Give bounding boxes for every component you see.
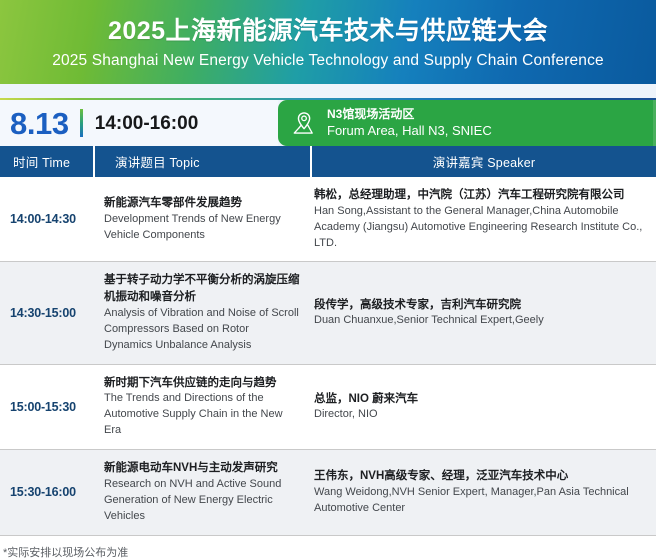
table-row: 14:30-15:00 基于转子动力学不平衡分析的涡旋压缩机振动和噪音分析 An…	[0, 262, 656, 364]
venue-name-en: Forum Area, Hall N3, SNIEC	[327, 122, 492, 140]
session-topic-cell: 基于转子动力学不平衡分析的涡旋压缩机振动和噪音分析 Analysis of Vi…	[95, 262, 312, 363]
table-row: 15:00-15:30 新时期下汽车供应链的走向与趋势 The Trends a…	[0, 365, 656, 450]
session-topic-cell: 新能源电动车NVH与主动发声研究 Research on NVH and Act…	[95, 450, 312, 534]
column-header-speaker: 演讲嘉宾 Speaker	[312, 146, 656, 177]
session-topic-cn: 基于转子动力学不平衡分析的涡旋压缩机振动和噪音分析	[104, 272, 300, 305]
session-speaker-cell: 总监，NIO 蔚来汽车 Director, NIO	[312, 365, 656, 449]
table-row: 14:00-14:30 新能源汽车零部件发展趋势 Development Tre…	[0, 177, 656, 262]
session-time: 14:30-15:00	[0, 262, 95, 363]
session-topic-cn: 新能源汽车零部件发展趋势	[104, 195, 300, 212]
event-info-bar: 8.13 14:00-16:00 N3馆现场活动区 Forum Area, Ha…	[0, 84, 656, 146]
session-speaker-cn: 段传学，高级技术专家，吉利汽车研究院	[314, 297, 646, 314]
session-speaker-cn: 韩松，总经理助理，中汽院（江苏）汽车工程研究院有限公司	[314, 187, 646, 204]
column-header-time: 时间 Time	[0, 146, 95, 177]
venue-name-cn: N3馆现场活动区	[327, 106, 492, 122]
session-topic-en: Research on NVH and Active Sound Generat…	[104, 477, 300, 525]
conference-title-en: 2025 Shanghai New Energy Vehicle Technol…	[52, 51, 604, 71]
venue-text-group: N3馆现场活动区 Forum Area, Hall N3, SNIEC	[327, 106, 492, 140]
event-date: 8.13	[0, 108, 69, 139]
session-topic-cell: 新能源汽车零部件发展趋势 Development Trends of New E…	[95, 177, 312, 261]
session-topic-cn: 新能源电动车NVH与主动发声研究	[104, 460, 300, 477]
session-time: 15:00-15:30	[0, 365, 95, 449]
event-time-range: 14:00-16:00	[95, 114, 199, 133]
map-pin-icon	[289, 109, 317, 137]
session-topic-en: Development Trends of New Energy Vehicle…	[104, 212, 300, 244]
session-topic-cell: 新时期下汽车供应链的走向与趋势 The Trends and Direction…	[95, 365, 312, 449]
session-speaker-en: Director, NIO	[314, 407, 646, 423]
table-header-row: 时间 Time 演讲题目 Topic 演讲嘉宾 Speaker	[0, 146, 656, 177]
session-speaker-en: Han Song,Assistant to the General Manage…	[314, 204, 646, 252]
session-speaker-cn: 王伟东，NVH高级专家、经理，泛亚汽车技术中心	[314, 468, 646, 485]
session-speaker-en: Wang Weidong,NVH Senior Expert, Manager,…	[314, 485, 646, 517]
session-topic-en: The Trends and Directions of the Automot…	[104, 391, 300, 439]
session-speaker-cell: 王伟东，NVH高级专家、经理，泛亚汽车技术中心 Wang Weidong,NVH…	[312, 450, 656, 534]
date-time-separator	[80, 109, 83, 137]
session-topic-cn: 新时期下汽车供应链的走向与趋势	[104, 375, 300, 392]
disclaimer-note: *实际安排以现场公布为准	[0, 536, 656, 560]
date-time-block: 8.13 14:00-16:00	[0, 100, 278, 146]
table-row: 15:30-16:00 新能源电动车NVH与主动发声研究 Research on…	[0, 450, 656, 535]
header-banner: 2025上海新能源汽车技术与供应链大会 2025 Shanghai New En…	[0, 0, 656, 84]
session-topic-en: Analysis of Vibration and Noise of Scrol…	[104, 306, 300, 354]
conference-agenda-poster: 2025上海新能源汽车技术与供应链大会 2025 Shanghai New En…	[0, 0, 656, 499]
session-speaker-cn: 总监，NIO 蔚来汽车	[314, 391, 646, 408]
session-speaker-en: Duan Chuanxue,Senior Technical Expert,Ge…	[314, 313, 646, 329]
session-time: 14:00-14:30	[0, 177, 95, 261]
session-speaker-cell: 韩松，总经理助理，中汽院（江苏）汽车工程研究院有限公司 Han Song,Ass…	[312, 177, 656, 261]
schedule-table: 时间 Time 演讲题目 Topic 演讲嘉宾 Speaker 14:00-14…	[0, 146, 656, 536]
session-speaker-cell: 段传学，高级技术专家，吉利汽车研究院 Duan Chuanxue,Senior …	[312, 262, 656, 363]
conference-title-cn: 2025上海新能源汽车技术与供应链大会	[108, 17, 548, 47]
column-header-topic: 演讲题目 Topic	[95, 146, 312, 177]
venue-block: N3馆现场活动区 Forum Area, Hall N3, SNIEC	[278, 100, 656, 146]
session-time: 15:30-16:00	[0, 450, 95, 534]
